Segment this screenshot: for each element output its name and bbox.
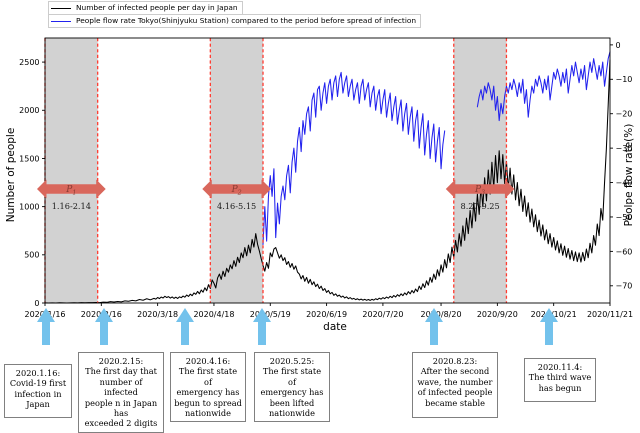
callout-text-line: nationwide (174, 408, 242, 418)
callout-text-line: The first state of (258, 366, 326, 387)
y-tick-label: 2000 (19, 106, 39, 115)
callout-text-line: begun to spread (174, 398, 242, 408)
period-bands-layer (45, 38, 506, 303)
callout-date: 2020.1.16: (8, 368, 68, 378)
x-tick-label: 2020/9/20 (477, 310, 518, 319)
y-tick-label: 1000 (19, 203, 39, 212)
callout-date: 2020.11.4: (528, 362, 592, 372)
callout-pointer-c3 (176, 308, 194, 345)
y-tick-label: 500 (24, 251, 39, 260)
callout-text-line: wave, the number (416, 377, 494, 387)
callout-text-line: infection in (8, 389, 68, 399)
callout-text-line: number of infected (82, 377, 160, 398)
callout-date: 2020.8.23: (416, 356, 494, 366)
period-range-label: 4.16-5.15 (217, 201, 256, 211)
callout-text-line: been lifted (258, 398, 326, 408)
plot-frame (45, 38, 610, 303)
series-layer (45, 52, 610, 303)
callout-text-line: The first day that (82, 366, 160, 376)
y2-tick-label: −60 (616, 247, 633, 256)
series-line-people-flow-rate-1 (263, 72, 445, 244)
callout-text-line: people n in Japan has (82, 398, 160, 419)
callout-text-line: became stable (416, 398, 494, 408)
callout-box-c5: 2020.8.23:After the secondwave, the numb… (412, 352, 498, 418)
callout-text-line: The third wave (528, 372, 592, 382)
callout-text-line: Japan (8, 399, 68, 409)
x-tick-label: 2020/3/18 (137, 310, 178, 319)
callout-text-line: Covid-19 first (8, 378, 68, 388)
callout-text-line: has begun (528, 383, 592, 393)
period-band-p1 (45, 38, 98, 303)
x-tick-label: 2020/8/20 (421, 310, 462, 319)
x-tick-label: 2020/6/19 (306, 310, 347, 319)
period-range-label: 8.27-9.25 (460, 201, 499, 211)
callout-date: 2020.4.16: (174, 356, 242, 366)
period-arrows-layer: P11.16-2.14P24.16-5.15P38.27-9.25 (37, 180, 514, 212)
y-tick-label: 0 (34, 299, 39, 308)
y2-axis-label: Peolpe flow rate(%) (623, 124, 635, 227)
callout-text-line: After the second (416, 366, 494, 376)
callout-text-line: of infected people (416, 387, 494, 397)
vertical-marker-lines (45, 38, 506, 303)
callout-text-line: emergency has (174, 387, 242, 397)
y2-tick-label: −70 (616, 282, 633, 291)
x-tick-label: 2020/7/20 (362, 310, 403, 319)
callout-box-c4: 2020.5.25:The first state ofemergency ha… (254, 352, 330, 422)
x-axis-label: date (323, 321, 347, 333)
x-tick-label: 2020/4/18 (193, 310, 234, 319)
x-tick-label: 2020/11/21 (587, 310, 633, 319)
y2-tick-label: 0 (616, 41, 621, 50)
axes-frame (45, 38, 610, 303)
y2-tick-label: −20 (616, 110, 633, 119)
y2-tick-label: −10 (616, 75, 633, 84)
period-range-label: 1.16-2.14 (52, 201, 91, 211)
callout-text-line: The first state of (174, 366, 242, 387)
callout-date: 2020.2.15: (82, 356, 160, 366)
callout-box-c1: 2020.1.16:Covid-19 firstinfection inJapa… (4, 364, 72, 418)
chart-page: Number of infected people per day in Jap… (0, 0, 640, 424)
callout-box-c2: 2020.2.15:The first day thatnumber of in… (78, 352, 164, 433)
callout-box-c3: 2020.4.16:The first state ofemergency ha… (170, 352, 246, 422)
y-tick-label: 2500 (19, 58, 39, 67)
y-tick-label: 1500 (19, 154, 39, 163)
y-axis-label: Number of people (5, 128, 17, 223)
callout-text-line: emergency has (258, 387, 326, 397)
callout-date: 2020.5.25: (258, 356, 326, 366)
callout-box-c6: 2020.11.4:The third wavehas begun (524, 358, 596, 402)
callout-text-line: nationwide (258, 408, 326, 418)
